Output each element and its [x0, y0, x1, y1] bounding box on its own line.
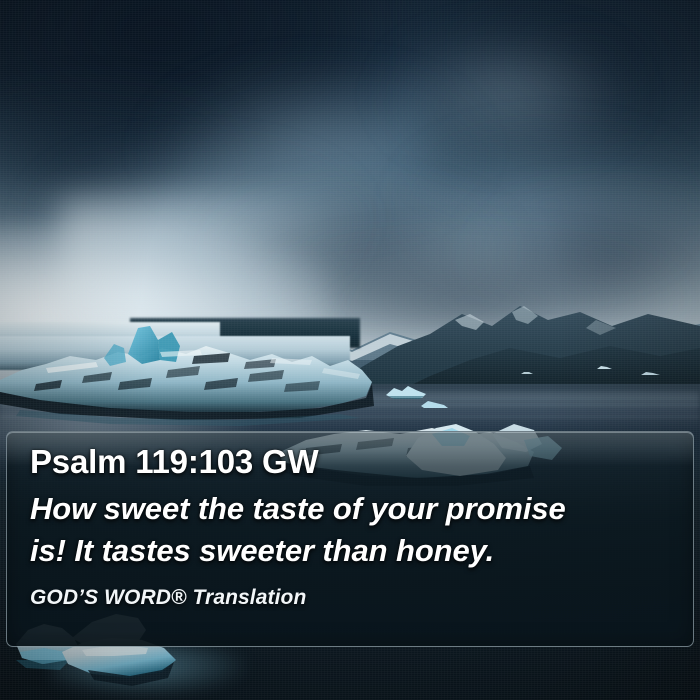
verse-text-block: Psalm 119:103 GW How sweet the taste of …	[30, 442, 679, 610]
verse-text: How sweet the taste of your promise is! …	[30, 488, 679, 572]
translation-credit: GOD’S WORD® Translation	[30, 586, 679, 610]
verse-line-1: How sweet the taste of your promise	[30, 488, 679, 530]
verse-overlay-band: Psalm 119:103 GW How sweet the taste of …	[6, 431, 694, 647]
small-ice-floe	[640, 370, 662, 377]
small-ice-floe	[418, 398, 452, 410]
small-ice-floe	[596, 364, 614, 371]
small-ice-floe	[520, 370, 534, 376]
verse-image-card: Psalm 119:103 GW How sweet the taste of …	[0, 0, 700, 700]
large-iceberg	[0, 326, 420, 426]
verse-line-2: is! It tastes sweeter than honey.	[30, 530, 679, 572]
verse-reference: Psalm 119:103 GW	[30, 442, 679, 482]
